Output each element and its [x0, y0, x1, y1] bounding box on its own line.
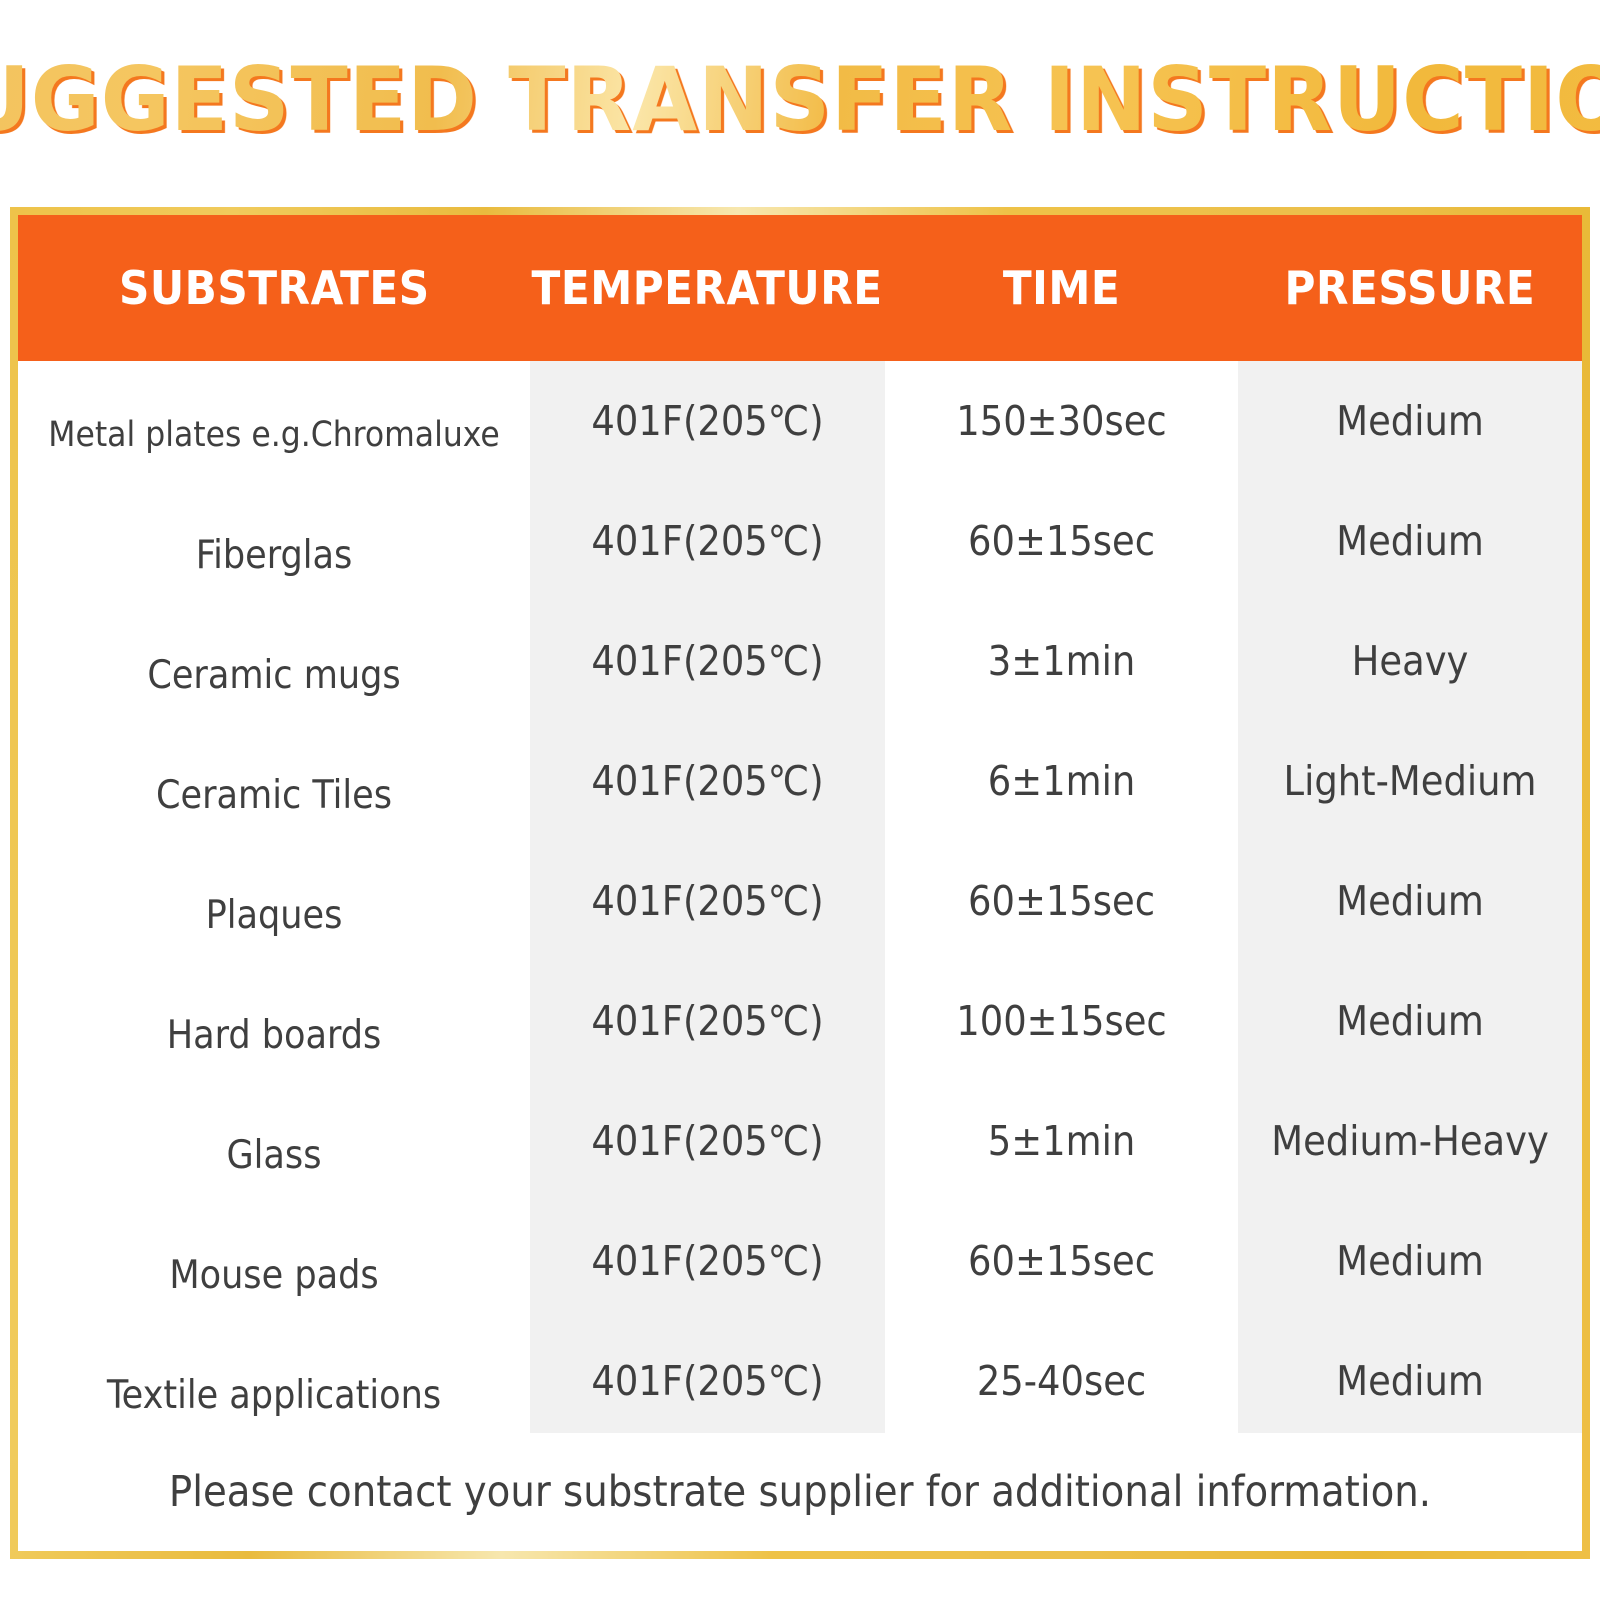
- cell-pressure: Medium: [1238, 361, 1582, 481]
- cell-pressure: Medium: [1238, 481, 1582, 601]
- column-header-time: TIME: [885, 215, 1238, 361]
- cell-substrate: Plaques: [18, 855, 530, 975]
- table-body: Metal plates e.g.Chromaluxe 401F(205℃) 1…: [18, 361, 1582, 1441]
- cell-pressure: Medium: [1238, 1201, 1582, 1321]
- transfer-instruction-table: SUBSTRATES TEMPERATURE TIME PRESSURE Met…: [18, 215, 1582, 1441]
- cell-temperature: 401F(205℃): [530, 1081, 885, 1201]
- cell-time: 60±15sec: [885, 841, 1238, 961]
- cell-pressure: Medium: [1238, 1321, 1582, 1441]
- table-row: Mouse pads 401F(205℃) 60±15sec Medium: [18, 1201, 1582, 1321]
- cell-substrate: Ceramic mugs: [18, 615, 530, 735]
- table-head: SUBSTRATES TEMPERATURE TIME PRESSURE: [18, 215, 1582, 361]
- cell-temperature: 401F(205℃): [530, 601, 885, 721]
- table-row: Glass 401F(205℃) 5±1min Medium-Heavy: [18, 1081, 1582, 1201]
- cell-substrate: Fiberglas: [18, 495, 530, 615]
- cell-time: 3±1min: [885, 601, 1238, 721]
- column-header-time-label: TIME: [1003, 261, 1120, 315]
- cell-temperature: 401F(205℃): [530, 481, 885, 601]
- cell-substrate: Metal plates e.g.Chromaluxe: [18, 375, 530, 495]
- cell-time: 5±1min: [885, 1081, 1238, 1201]
- column-header-temperature-label: TEMPERATURE: [532, 261, 883, 315]
- cell-pressure: Medium: [1238, 961, 1582, 1081]
- cell-temperature: 401F(205℃): [530, 841, 885, 961]
- cell-temperature: 401F(205℃): [530, 721, 885, 841]
- cell-time: 150±30sec: [885, 361, 1238, 481]
- table-card: SUBSTRATES TEMPERATURE TIME PRESSURE Met…: [10, 207, 1590, 1559]
- table-row: Fiberglas 401F(205℃) 60±15sec Medium: [18, 481, 1582, 601]
- cell-pressure: Light-Medium: [1238, 721, 1582, 841]
- table-row: Textile applications 401F(205℃) 25-40sec…: [18, 1321, 1582, 1441]
- cell-pressure: Heavy: [1238, 601, 1582, 721]
- table-card-inner: SUBSTRATES TEMPERATURE TIME PRESSURE Met…: [18, 215, 1582, 1551]
- cell-time: 25-40sec: [885, 1321, 1238, 1441]
- cell-pressure: Medium: [1238, 841, 1582, 961]
- cell-substrate: Glass: [18, 1095, 530, 1215]
- header-row: SUBSTRATES TEMPERATURE TIME PRESSURE: [18, 215, 1582, 361]
- table-row: Ceramic mugs 401F(205℃) 3±1min Heavy: [18, 601, 1582, 721]
- cell-time: 100±15sec: [885, 961, 1238, 1081]
- column-header-substrates-label: SUBSTRATES: [119, 261, 430, 315]
- cell-temperature: 401F(205℃): [530, 1201, 885, 1321]
- cell-substrate: Ceramic Tiles: [18, 735, 530, 855]
- column-header-temperature: TEMPERATURE: [530, 215, 885, 361]
- column-header-pressure-label: PRESSURE: [1285, 261, 1536, 315]
- cell-time: 60±15sec: [885, 1201, 1238, 1321]
- page-title-container: SUGGESTED TRANSFER INSTRUCTION: [0, 44, 1600, 156]
- instruction-sheet: SUGGESTED TRANSFER INSTRUCTION SUBSTRATE…: [0, 0, 1600, 1600]
- table-row: Hard boards 401F(205℃) 100±15sec Medium: [18, 961, 1582, 1081]
- cell-temperature: 401F(205℃): [530, 961, 885, 1081]
- table-row: Ceramic Tiles 401F(205℃) 6±1min Light-Me…: [18, 721, 1582, 841]
- cell-substrate: Hard boards: [18, 975, 530, 1095]
- page-title: SUGGESTED TRANSFER INSTRUCTION: [0, 56, 1600, 144]
- column-header-pressure: PRESSURE: [1238, 215, 1582, 361]
- cell-temperature: 401F(205℃): [530, 361, 885, 481]
- footer-note: Please contact your substrate supplier f…: [18, 1433, 1582, 1551]
- column-header-substrates: SUBSTRATES: [18, 215, 530, 361]
- cell-temperature: 401F(205℃): [530, 1321, 885, 1441]
- cell-time: 60±15sec: [885, 481, 1238, 601]
- cell-pressure: Medium-Heavy: [1238, 1081, 1582, 1201]
- table-row: Plaques 401F(205℃) 60±15sec Medium: [18, 841, 1582, 961]
- table-row: Metal plates e.g.Chromaluxe 401F(205℃) 1…: [18, 361, 1582, 481]
- cell-substrate: Mouse pads: [18, 1215, 530, 1335]
- cell-time: 6±1min: [885, 721, 1238, 841]
